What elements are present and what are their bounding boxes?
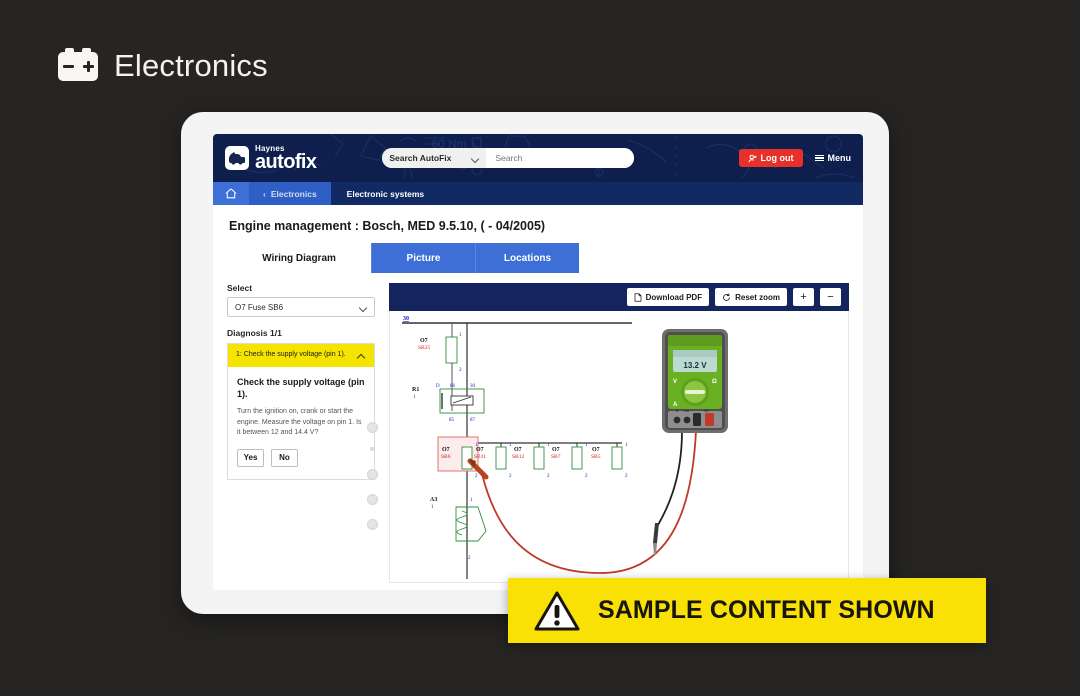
page-title: Electronics	[114, 48, 268, 84]
breadcrumb-home-button[interactable]	[213, 182, 249, 205]
svg-text:A3: A3	[430, 497, 437, 503]
svg-text:A: A	[673, 402, 678, 408]
tab-bar: Wiring Diagram Picture Locations	[227, 243, 849, 273]
wiring-diagram: 30 O7 SB25 1 2	[390, 311, 849, 583]
search-input[interactable]	[486, 148, 634, 168]
answer-buttons: Yes No	[237, 449, 365, 467]
tab-picture[interactable]: Picture	[371, 243, 475, 273]
sample-banner-text: SAMPLE CONTENT SHOWN	[598, 596, 935, 625]
chevron-down-icon	[472, 155, 479, 162]
select-label: Select	[227, 283, 375, 293]
zoom-in-button[interactable]: +	[793, 288, 814, 306]
svg-text:2: 2	[475, 474, 478, 479]
svg-text:2: 2	[509, 474, 512, 479]
svg-text:1: 1	[470, 498, 473, 503]
svg-text:mA: mA	[684, 409, 690, 413]
main-content: Engine management : Bosch, MED 9.5.10, (…	[213, 205, 863, 590]
svg-text:30: 30	[470, 384, 476, 389]
svg-text:O7: O7	[476, 447, 484, 453]
user-icon	[748, 154, 757, 163]
tablet-button-5	[367, 519, 378, 530]
tablet-screen: 60 Nm Haynes autofix	[213, 134, 863, 590]
warning-triangle-icon	[534, 590, 580, 632]
app-logo[interactable]: Haynes autofix	[225, 145, 316, 172]
svg-text:1: 1	[509, 443, 512, 448]
svg-text:2: 2	[459, 368, 462, 373]
hamburger-icon	[815, 153, 824, 163]
svg-text:86: 86	[450, 384, 456, 389]
chevron-left-icon: ‹	[263, 189, 266, 199]
viewer-toolbar: Download PDF Reset zoom + −	[389, 283, 849, 311]
svg-text:O7: O7	[552, 447, 560, 453]
svg-text:VΩ: VΩ	[704, 409, 709, 413]
diagnosis-card: 1: Check the supply voltage (pin 1). Che…	[227, 343, 375, 480]
diagnosis-step-toggle[interactable]: 1: Check the supply voltage (pin 1).	[228, 344, 374, 367]
svg-text:85: 85	[449, 418, 455, 423]
download-pdf-button[interactable]: Download PDF	[627, 288, 709, 306]
haynes-logo-icon	[225, 146, 249, 170]
document-title: Engine management : Bosch, MED 9.5.10, (…	[229, 219, 849, 233]
menu-button[interactable]: Menu	[815, 153, 852, 163]
search-scope-select[interactable]: Search AutoFix	[382, 148, 486, 168]
svg-text:SB6: SB6	[441, 454, 451, 460]
breadcrumb-previous-label: Electronics	[271, 189, 317, 199]
tablet-button-1	[367, 422, 378, 433]
answer-yes-button[interactable]: Yes	[237, 449, 264, 467]
tablet-device: 60 Nm Haynes autofix	[181, 112, 889, 614]
svg-text:30: 30	[403, 316, 409, 322]
tablet-side-buttons	[367, 422, 383, 544]
search-scope-label: Search AutoFix	[389, 153, 451, 163]
svg-text:R1: R1	[412, 387, 419, 393]
app-header: 60 Nm Haynes autofix	[213, 134, 863, 182]
svg-text:Ω: Ω	[712, 379, 717, 385]
reset-zoom-label: Reset zoom	[735, 293, 780, 302]
svg-text:1: 1	[585, 443, 588, 448]
battery-icon	[58, 52, 98, 81]
reset-zoom-button[interactable]: Reset zoom	[715, 288, 787, 306]
breadcrumb-current-label: Electronic systems	[347, 189, 424, 199]
diagnosis-step-body: Check the supply voltage (pin 1). Turn t…	[228, 367, 374, 479]
sample-content-banner: SAMPLE CONTENT SHOWN	[508, 578, 986, 643]
document-icon	[634, 293, 642, 302]
breadcrumb: ‹ Electronics Electronic systems	[213, 182, 863, 205]
svg-text:O7: O7	[514, 447, 522, 453]
svg-text:SB11: SB11	[474, 454, 486, 460]
breadcrumb-item-electronic-systems[interactable]: Electronic systems	[331, 182, 440, 205]
svg-text:SB7: SB7	[551, 454, 561, 460]
sidebar-panel: Select O7 Fuse SB6 Diagnosis 1/1 1: Chec…	[227, 283, 375, 583]
diagnosis-step-summary: 1: Check the supply voltage (pin 1).	[236, 350, 352, 359]
svg-text:1: 1	[413, 395, 416, 400]
menu-label: Menu	[828, 153, 852, 163]
fuse-select-value: O7 Fuse SB6	[235, 303, 283, 312]
logout-label: Log out	[761, 153, 794, 163]
chevron-up-icon	[358, 353, 366, 361]
svg-text:87: 87	[470, 418, 476, 423]
diagnosis-step-text: Turn the ignition on, crank or start the…	[237, 407, 365, 439]
search-bar[interactable]: Search AutoFix	[382, 148, 634, 168]
fuse-select[interactable]: O7 Fuse SB6	[227, 297, 375, 317]
svg-text:O7: O7	[420, 338, 428, 344]
logo-bottom-text: autofix	[255, 152, 316, 172]
multimeter: 13.2 V V Ω A	[662, 329, 728, 433]
svg-text:SB25: SB25	[418, 345, 430, 351]
chevron-down-icon	[360, 304, 367, 311]
svg-text:SB5: SB5	[591, 454, 601, 460]
tablet-button-2	[370, 447, 374, 451]
refresh-icon	[722, 293, 731, 302]
svg-text:O7: O7	[442, 447, 450, 453]
svg-text:SB12: SB12	[512, 454, 524, 460]
diagnosis-header: Diagnosis 1/1	[227, 328, 375, 338]
svg-text:V: V	[673, 379, 677, 385]
svg-text:1: 1	[459, 333, 462, 338]
tablet-button-4	[367, 494, 378, 505]
svg-text:O7: O7	[592, 447, 600, 453]
wiring-diagram-viewer[interactable]: 30 O7 SB25 1 2	[389, 311, 849, 583]
svg-text:1: 1	[625, 443, 628, 448]
home-icon	[225, 188, 237, 199]
svg-text:2: 2	[625, 474, 628, 479]
logout-button[interactable]: Log out	[739, 149, 803, 167]
download-pdf-label: Download PDF	[646, 293, 702, 302]
svg-text:1: 1	[547, 443, 550, 448]
svg-text:2: 2	[547, 474, 550, 479]
svg-text:2: 2	[585, 474, 588, 479]
svg-text:D: D	[436, 384, 440, 389]
svg-text:13.2 V: 13.2 V	[683, 361, 707, 370]
svg-text:2: 2	[468, 556, 471, 561]
tab-wiring-diagram[interactable]: Wiring Diagram	[227, 243, 371, 273]
answer-no-button[interactable]: No	[271, 449, 298, 467]
diagnosis-step-title: Check the supply voltage (pin 1).	[237, 376, 365, 400]
tablet-button-3	[367, 469, 378, 480]
tab-locations[interactable]: Locations	[475, 243, 579, 273]
svg-text:1: 1	[431, 505, 434, 510]
viewer-panel: Download PDF Reset zoom + −	[389, 283, 849, 583]
breadcrumb-item-electronics[interactable]: ‹ Electronics	[249, 182, 331, 205]
page-heading: Electronics	[58, 48, 268, 84]
zoom-out-button[interactable]: −	[820, 288, 841, 306]
